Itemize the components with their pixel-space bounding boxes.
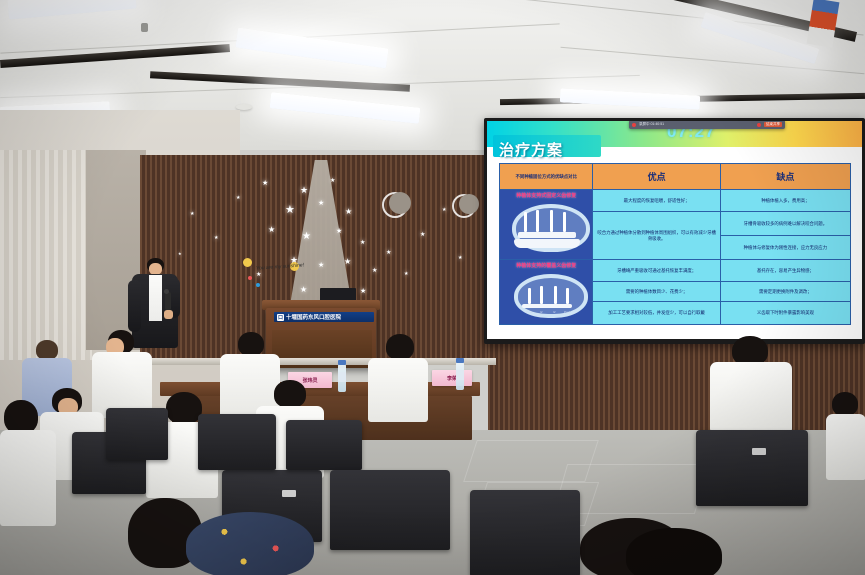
table-column-disadvantages: 缺点 种植体植入多，费用高； 牙槽骨吸收较多的病例难以解决咬合问题。 种植体与修…: [721, 164, 850, 324]
implant-diagram-label-overdenture: 种植体支持的覆盖义齿修复: [500, 262, 592, 269]
table-cell: 基托存在，容易产生异物感；: [721, 260, 850, 282]
moon-decal: [452, 194, 476, 218]
star-decal: ★: [372, 268, 377, 274]
presenter-hand: [164, 310, 173, 319]
presenter-arm-left: [128, 280, 141, 332]
slide-title: 治疗方案: [499, 139, 563, 160]
mic-indicator-icon: [632, 123, 636, 127]
table-cell: 最大程度的恢复咀嚼，舒适性好；: [593, 190, 719, 212]
audience-member-foreground: [0, 400, 60, 530]
table-cell: 加工工艺要求相对较低，并发症少，可以自行取戴: [593, 302, 719, 324]
audience-shirt: [710, 362, 792, 432]
bottle-cap: [456, 358, 464, 363]
record-status-icon: [757, 123, 761, 127]
audience-head: [274, 380, 306, 408]
microphone[interactable]: [165, 292, 171, 310]
star-decal: ★: [318, 262, 324, 269]
patterned-headscarf: [186, 512, 314, 575]
audience-shirt: [0, 430, 56, 526]
star-decal: ★: [386, 250, 391, 256]
implant-diagram-overdenture: 种植体支持的覆盖义齿修复 Pm1 I2 I2 Pm1: [500, 260, 592, 324]
audience-head: [166, 392, 202, 424]
chair-tag: [282, 490, 296, 497]
chair: [470, 490, 580, 575]
table-cell: 咬合力通过种植体分散到种植体周围组织，可以有效减少牙槽骨吸收。: [593, 212, 719, 260]
audience-head: [36, 340, 58, 360]
table-cell: 牙槽嵴严重吸收可通过基托恢复丰满度；: [593, 260, 719, 282]
name-placard: 李荣: [432, 370, 472, 386]
star-decal: ★: [190, 212, 194, 217]
audience-head: [386, 334, 414, 360]
implant-diagram-fixed: 种植体支持式固定义齿修复: [500, 190, 592, 260]
projection-screen-frame: 治疗方案 07:27 录屏中 01:40:51 结束共享 不同种植固位方式的优缺…: [484, 118, 865, 344]
ceiling-light-panel: [560, 88, 701, 109]
projection-screen[interactable]: 治疗方案 07:27 录屏中 01:40:51 结束共享 不同种植固位方式的优缺…: [487, 121, 862, 339]
table-header-disadvantages: 缺点: [721, 164, 850, 190]
star-decal: ★: [236, 196, 240, 201]
star-decal: ★: [300, 186, 308, 195]
comparison-table: 不同种植固位方式的优缺点对比 种植体支持式固定义齿修复: [499, 163, 851, 325]
star-decal: ★: [420, 232, 425, 238]
star-decal: ★: [360, 240, 365, 246]
star-decal: ★: [336, 228, 342, 235]
star-decal: ★: [442, 208, 446, 213]
hospital-logo-icon: 口: [277, 314, 284, 321]
audience-member-foreground: [616, 524, 736, 575]
table-cell: 种植体与修复体为刚性连接，应力无良应力: [721, 236, 850, 260]
music-note-decal: [248, 276, 252, 280]
star-decal: ★: [345, 208, 352, 216]
conference-room-photo: ★ ★ ★ ★ ★ ★ ★ ★ ★ ★ ★ ★ ★ ★ ★ ★ ★ ★ ★ ★ …: [0, 0, 865, 575]
table-cell: 牙槽骨吸收较多的病例难以解决咬合问题。: [721, 212, 850, 236]
end-share-button[interactable]: 结束共享: [764, 122, 782, 127]
ceiling-beam: [150, 71, 410, 92]
star-decal: ★: [458, 256, 462, 261]
podium-org-name: 十堰国药东风口腔医院: [286, 313, 341, 321]
table-column-advantages: 优点 最大程度的恢复咀嚼，舒适性好； 咬合力通过种植体分散到种植体周围组织，可以…: [593, 164, 720, 324]
star-decal: ★: [178, 252, 182, 256]
star-decal: ★: [268, 226, 275, 234]
star-decal: ★: [360, 288, 366, 295]
audience-head: [238, 332, 264, 356]
bottle-label: [338, 372, 346, 382]
table-cell: 需要的种植体数目少、花费少；: [593, 282, 719, 302]
chair: [330, 470, 450, 550]
table-corner-header: 不同种植固位方式的优缺点对比: [500, 164, 592, 190]
audience-head: [4, 400, 38, 434]
star-decal: ★: [285, 205, 295, 216]
audience-member: [368, 334, 430, 426]
star-decal: ★: [302, 232, 311, 242]
chair: [198, 414, 276, 470]
bottle-label: [456, 370, 464, 380]
presenter-shirt: [149, 275, 162, 321]
audience-head: [626, 528, 722, 575]
star-decal: ★: [404, 272, 408, 277]
chair: [106, 408, 168, 460]
star-decal: ★: [318, 200, 324, 207]
ceiling-light-panel: [7, 0, 136, 20]
table-cell: 种植体植入多，费用高；: [721, 190, 850, 212]
star-decal: ★: [330, 178, 335, 184]
audience-member: [826, 392, 865, 482]
star-decal: ★: [214, 236, 218, 241]
bottle-cap: [338, 360, 346, 365]
table-cell: 需要定期更换附件及调改；: [721, 282, 850, 302]
star-decal: ★: [262, 180, 268, 187]
audience-head: [832, 392, 858, 416]
window-curtain: [0, 150, 92, 360]
implant-diagram-label-fixed: 种植体支持式固定义齿修复: [500, 192, 592, 199]
table-column-images: 不同种植固位方式的优缺点对比 种植体支持式固定义齿修复: [500, 164, 593, 324]
table-header-advantages: 优点: [593, 164, 719, 190]
sprinkler-head: [141, 23, 148, 32]
star-decal: ★: [300, 286, 307, 294]
presentation-slide: 治疗方案 07:27 录屏中 01:40:51 结束共享 不同种植固位方式的优缺…: [487, 121, 862, 339]
flower-decal: [243, 258, 252, 267]
chair: [286, 420, 362, 470]
podium-name-plate: 口 十堰国药东风口腔医院: [274, 312, 374, 322]
moon-decal: [382, 192, 408, 218]
star-decal: ★: [344, 258, 351, 266]
star-decal: ★: [256, 272, 261, 278]
ceiling-light-panel: [270, 92, 421, 124]
music-note-decal: [256, 283, 260, 287]
chair: [696, 430, 808, 506]
table-cell: 义齿取下时附件暴露影响美观: [721, 302, 850, 324]
recording-toolbar[interactable]: 录屏中 01:40:51 结束共享: [629, 121, 785, 129]
audience-shirt: [826, 414, 865, 480]
recording-session-label: 录屏中 01:40:51: [639, 122, 664, 127]
wood-slat-wall-right: [488, 330, 865, 438]
chair-tag: [752, 448, 766, 455]
audience-shirt: [368, 358, 428, 422]
